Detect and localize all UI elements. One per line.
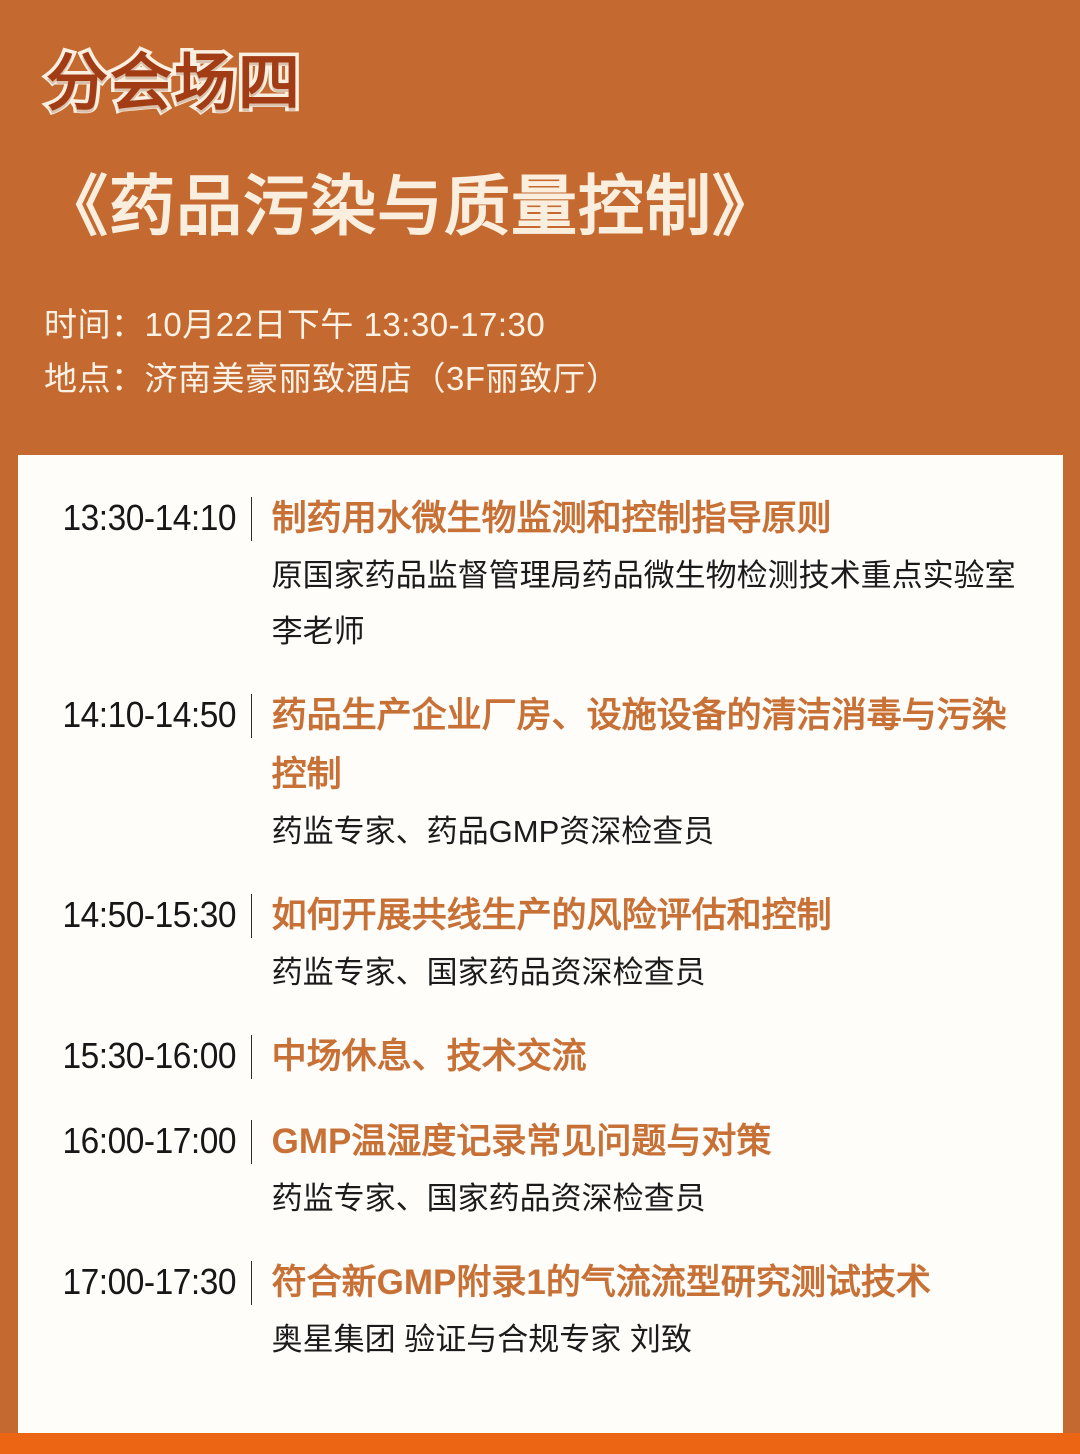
- agenda-row: 16:00-17:00 GMP温湿度记录常见问题与对策 药监专家、国家药品资深检…: [42, 1112, 1039, 1227]
- footer-accent-bar: [0, 1433, 1080, 1454]
- session-speaker: 药监专家、国家药品资深检查员: [272, 1171, 1039, 1227]
- session-speaker: 药监专家、药品GMP资深检查员: [272, 804, 1039, 860]
- row-divider: [251, 1035, 252, 1079]
- row-divider: [251, 894, 252, 938]
- session-topic: 符合新GMP附录1的气流流型研究测试技术: [272, 1253, 1039, 1312]
- session-speaker-name: 李老师: [272, 604, 1039, 660]
- session-time: 14:10-14:50: [42, 686, 236, 744]
- session-body: GMP温湿度记录常见问题与对策 药监专家、国家药品资深检查员: [272, 1112, 1039, 1227]
- session-topic: 如何开展共线生产的风险评估和控制: [272, 886, 1039, 945]
- session-body: 药品生产企业厂房、设施设备的清洁消毒与污染控制 药监专家、药品GMP资深检查员: [272, 686, 1039, 860]
- session-topic: GMP温湿度记录常见问题与对策: [272, 1112, 1039, 1171]
- row-divider: [251, 1120, 252, 1164]
- session-track-label: 分会场四: [46, 48, 302, 120]
- session-time: 15:30-16:00: [42, 1027, 236, 1085]
- session-speaker: 药监专家、国家药品资深检查员: [272, 945, 1039, 1001]
- session-topic: 药品生产企业厂房、设施设备的清洁消毒与污染控制: [272, 686, 1039, 804]
- session-topic: 中场休息、技术交流: [272, 1027, 1039, 1086]
- session-topic: 制药用水微生物监测和控制指导原则: [272, 489, 1039, 548]
- row-divider: [251, 497, 252, 541]
- session-speaker: 原国家药品监督管理局药品微生物检测技术重点实验室: [272, 548, 1039, 604]
- agenda-row: 15:30-16:00 中场休息、技术交流: [42, 1027, 1039, 1086]
- agenda-row: 14:10-14:50 药品生产企业厂房、设施设备的清洁消毒与污染控制 药监专家…: [42, 686, 1039, 860]
- session-time: 13:30-14:10: [42, 489, 236, 547]
- session-time: 16:00-17:00: [42, 1112, 236, 1170]
- agenda-row: 13:30-14:10 制药用水微生物监测和控制指导原则 原国家药品监督管理局药…: [42, 489, 1039, 660]
- session-time: 14:50-15:30: [42, 886, 236, 944]
- session-body: 制药用水微生物监测和控制指导原则 原国家药品监督管理局药品微生物检测技术重点实验…: [272, 489, 1039, 660]
- row-divider: [251, 1261, 252, 1305]
- session-poster: 分会场四 《药品污染与质量控制》 时间：10月22日下午 13:30-17:30…: [0, 0, 1080, 1454]
- event-meta: 时间：10月22日下午 13:30-17:30 地点：济南美豪丽致酒店（3F丽致…: [44, 298, 620, 406]
- event-time: 时间：10月22日下午 13:30-17:30: [44, 298, 620, 352]
- session-body: 中场休息、技术交流: [272, 1027, 1039, 1086]
- session-body: 符合新GMP附录1的气流流型研究测试技术 奥星集团 验证与合规专家 刘致: [272, 1253, 1039, 1368]
- agenda-row: 14:50-15:30 如何开展共线生产的风险评估和控制 药监专家、国家药品资深…: [42, 886, 1039, 1001]
- agenda-row: 17:00-17:30 符合新GMP附录1的气流流型研究测试技术 奥星集团 验证…: [42, 1253, 1039, 1368]
- session-body: 如何开展共线生产的风险评估和控制 药监专家、国家药品资深检查员: [272, 886, 1039, 1001]
- page-title: 《药品污染与质量控制》: [42, 163, 779, 249]
- poster-header: 分会场四 《药品污染与质量控制》 时间：10月22日下午 13:30-17:30…: [0, 0, 1080, 455]
- agenda-card: 13:30-14:10 制药用水微生物监测和控制指导原则 原国家药品监督管理局药…: [18, 455, 1063, 1433]
- event-venue: 地点：济南美豪丽致酒店（3F丽致厅）: [44, 352, 620, 406]
- session-time: 17:00-17:30: [42, 1253, 236, 1311]
- row-divider: [251, 694, 252, 738]
- session-speaker: 奥星集团 验证与合规专家 刘致: [272, 1312, 1039, 1368]
